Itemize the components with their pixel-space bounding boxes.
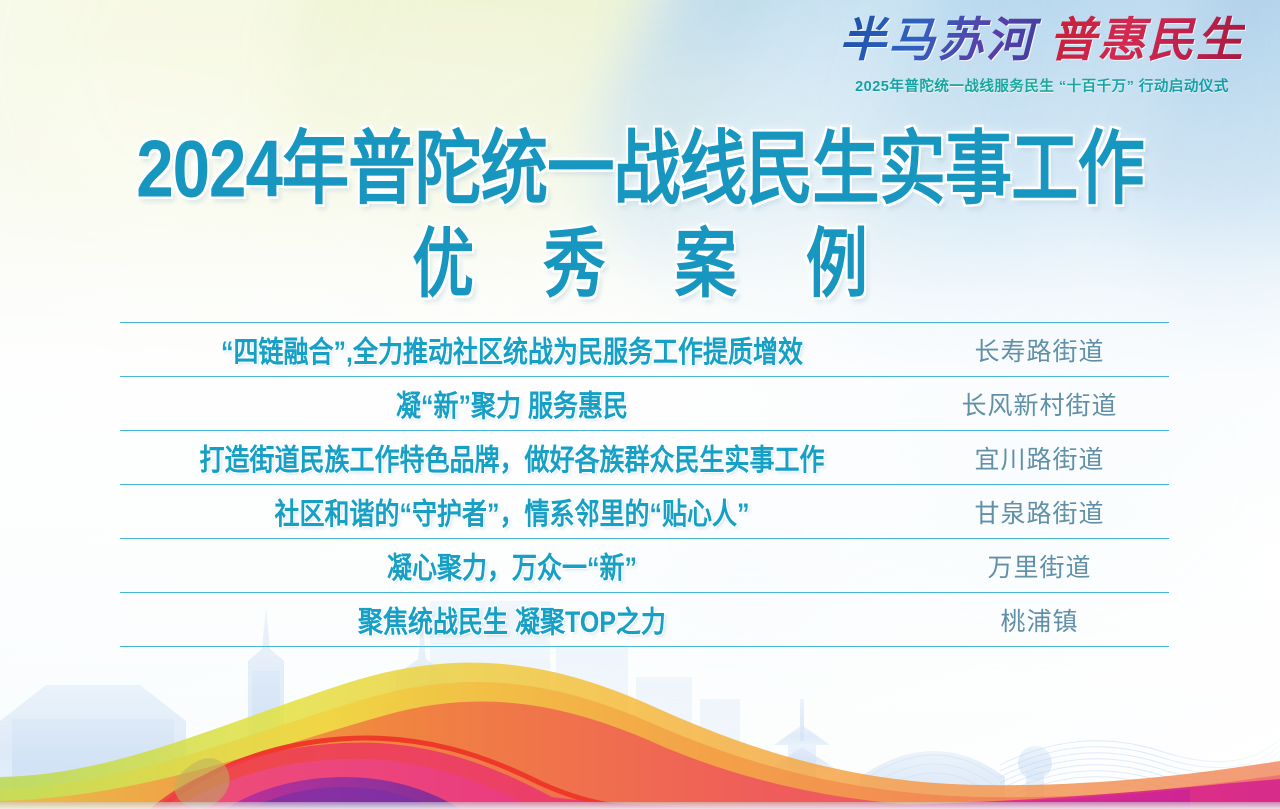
logo-calligraphy: 半马苏河普惠民生 bbox=[832, 18, 1252, 65]
table-separator bbox=[120, 484, 1169, 485]
table-row[interactable]: 社区和谐的“守护者”，情系邻里的“贴心人” 甘泉路街道 bbox=[120, 485, 1169, 538]
event-subtitle: 2025年普陀统一战线服务民生 “十百千万” 行动启动仪式 bbox=[832, 75, 1252, 96]
case-organization: 万里街道 bbox=[910, 548, 1169, 584]
table-row[interactable]: 打造街道民族工作特色品牌，做好各族群众民生实事工作 宜川路街道 bbox=[120, 431, 1169, 484]
table-separator bbox=[120, 646, 1169, 647]
event-logo-block: 半马苏河普惠民生 2025年普陀统一战线服务民生 “十百千万” 行动启动仪式 bbox=[832, 18, 1252, 96]
table-row[interactable]: 聚焦统战民生 凝聚TOP之力 桃浦镇 bbox=[120, 593, 1169, 646]
case-organization: 长寿路街道 bbox=[910, 332, 1169, 368]
case-title: 聚焦统战民生 凝聚TOP之力 bbox=[120, 598, 910, 640]
case-organization: 宜川路街道 bbox=[910, 440, 1169, 476]
table-row[interactable]: 凝心聚力，万众一“新” 万里街道 bbox=[120, 539, 1169, 592]
table-separator bbox=[120, 592, 1169, 593]
case-title: 凝“新”聚力 服务惠民 bbox=[120, 382, 910, 424]
logo-secondary-text: 普惠民生 bbox=[1049, 15, 1245, 67]
case-title: 打造街道民族工作特色品牌，做好各族群众民生实事工作 bbox=[120, 436, 910, 478]
case-list-table: “四链融合”,全力推动社区统战为民服务工作提质增效 长寿路街道 凝“新”聚力 服… bbox=[120, 322, 1169, 647]
table-separator bbox=[120, 322, 1169, 323]
case-title: “四链融合”,全力推动社区统战为民服务工作提质增效 bbox=[120, 328, 910, 370]
poster-canvas: 半马苏河普惠民生 2025年普陀统一战线服务民生 “十百千万” 行动启动仪式 2… bbox=[0, 0, 1280, 809]
table-separator bbox=[120, 430, 1169, 431]
case-title: 凝心聚力，万众一“新” bbox=[120, 544, 910, 586]
table-row[interactable]: “四链融合”,全力推动社区统战为民服务工作提质增效 长寿路街道 bbox=[120, 323, 1169, 376]
case-title: 社区和谐的“守护者”，情系邻里的“贴心人” bbox=[120, 490, 910, 532]
bottom-edge-strip bbox=[0, 802, 1280, 809]
main-title-block: 2024年普陀统一战线民生实事工作 优 秀 案 例 bbox=[0, 128, 1280, 290]
table-row[interactable]: 凝“新”聚力 服务惠民 长风新村街道 bbox=[120, 377, 1169, 430]
case-organization: 甘泉路街道 bbox=[910, 494, 1169, 530]
main-title-line2: 优 秀 案 例 bbox=[0, 228, 1280, 304]
main-title-line1: 2024年普陀统一战线民生实事工作 bbox=[0, 128, 1280, 209]
case-organization: 长风新村街道 bbox=[910, 386, 1169, 422]
logo-primary-text: 半马苏河 bbox=[839, 15, 1049, 67]
table-separator bbox=[120, 376, 1169, 377]
case-organization: 桃浦镇 bbox=[910, 602, 1169, 638]
table-separator bbox=[120, 538, 1169, 539]
